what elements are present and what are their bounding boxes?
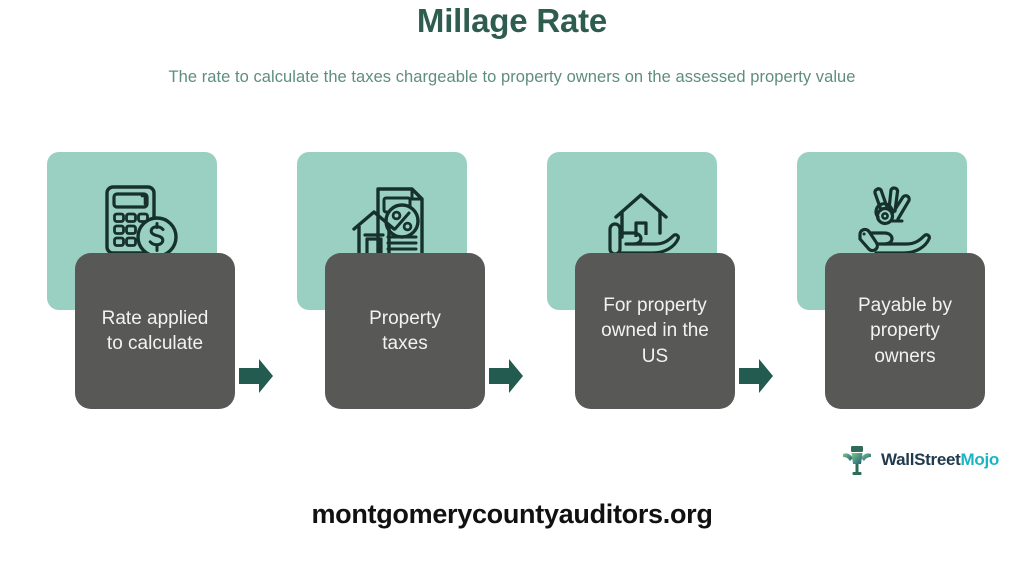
step-4-card[interactable]: Payable by property owners xyxy=(825,253,985,409)
wallstreetmojo-logo: WallStreetMojo xyxy=(840,443,999,477)
process-step-2: Property taxes xyxy=(295,150,511,415)
step-2-label: Property taxes xyxy=(369,306,441,356)
brand-name-secondary: Mojo xyxy=(961,450,999,469)
step-3-label: For property owned in the US xyxy=(601,293,709,368)
process-step-3: For property owned in the US xyxy=(545,150,761,415)
arrow-right-icon xyxy=(487,356,525,396)
step-connector-arrow-2 xyxy=(487,356,525,396)
step-1-card[interactable]: Rate applied to calculate xyxy=(75,253,235,409)
step-4-label: Payable by property owners xyxy=(858,293,952,368)
wallstreetmojo-logo-mark xyxy=(840,443,874,477)
process-step-1: Rate applied to calculate xyxy=(45,150,261,415)
page-subtitle: The rate to calculate the taxes chargeab… xyxy=(0,68,1024,87)
step-connector-arrow-3 xyxy=(737,356,775,396)
brand-logo-text: WallStreetMojo xyxy=(881,450,999,470)
arrow-right-icon xyxy=(237,356,275,396)
step-1-label: Rate applied to calculate xyxy=(102,306,209,356)
step-2-card[interactable]: Property taxes xyxy=(325,253,485,409)
page-title: Millage Rate xyxy=(0,2,1024,40)
process-step-4: Payable by property owners xyxy=(795,150,1011,415)
step-3-card[interactable]: For property owned in the US xyxy=(575,253,735,409)
brand-name-primary: WallStreet xyxy=(881,450,961,469)
process-steps-row: Rate applied to calculate Propert xyxy=(0,150,1024,420)
step-connector-arrow-1 xyxy=(237,356,275,396)
footer-url: montgomerycountyauditors.org xyxy=(0,499,1024,530)
arrow-right-icon xyxy=(737,356,775,396)
